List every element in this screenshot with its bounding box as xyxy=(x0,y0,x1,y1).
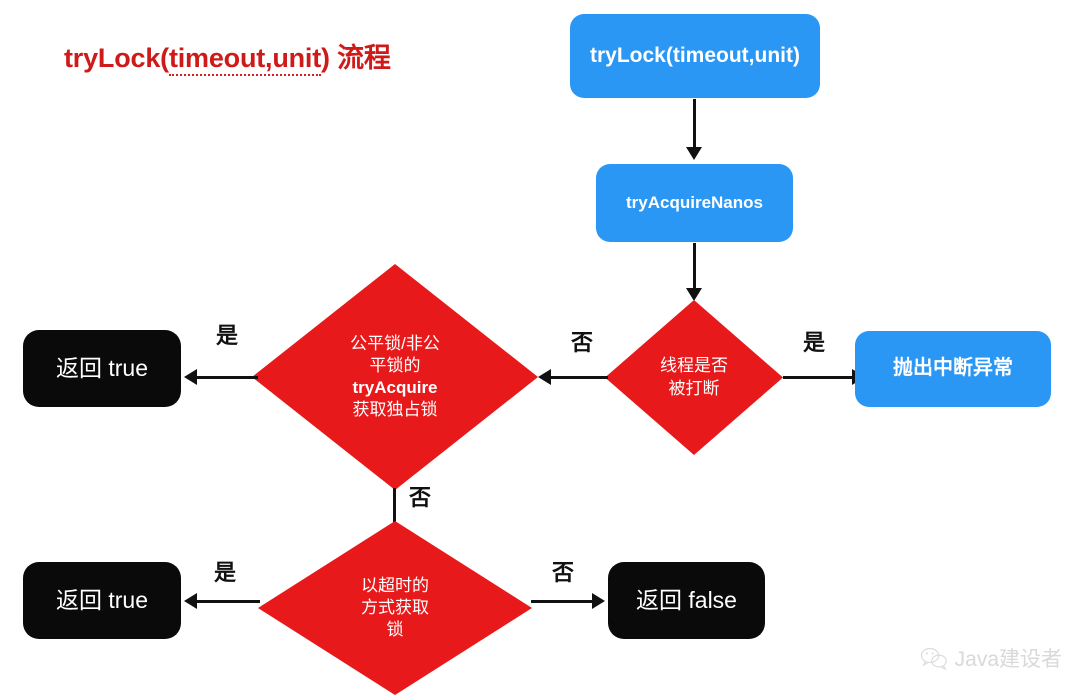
title-spellcheck-text: timeout,unit xyxy=(169,43,321,76)
node-trylock-start-label: tryLock(timeout,unit) xyxy=(590,43,800,70)
node-return-true-bottom-label: 返回 true xyxy=(56,586,148,615)
edge-timeout-yes-line xyxy=(196,600,260,603)
title-prefix: tryLock( xyxy=(64,43,169,73)
node-return-false-label: 返回 false xyxy=(636,586,737,615)
node-trylock-prefix: tryLock( xyxy=(590,44,673,67)
title-suffix: ) 流程 xyxy=(321,43,391,73)
edge-start-to-nanos-line xyxy=(693,99,696,149)
node-return-true-bottom[interactable]: 返回 true xyxy=(23,562,181,639)
edge-label-interrupted-no: 否 xyxy=(571,325,593,357)
node-throw-interrupted-exception[interactable]: 抛出中断异常 xyxy=(855,331,1051,407)
edge-start-to-nanos-arrowhead xyxy=(686,147,702,160)
node-tryacquirenanos-label: tryAcquireNanos xyxy=(626,192,763,214)
node-return-true-top[interactable]: 返回 true xyxy=(23,330,181,407)
edge-fair-yes-line xyxy=(196,376,258,379)
diamond-shape xyxy=(252,264,538,490)
node-trylock-suffix: ) xyxy=(793,44,800,67)
diamond-shape xyxy=(605,300,783,455)
node-thread-interrupted-decision[interactable]: 线程是否 被打断 xyxy=(605,300,783,455)
edge-timeout-no-line xyxy=(531,600,595,603)
diamond-shape xyxy=(258,521,532,695)
edge-timeout-no-arrowhead xyxy=(592,593,605,609)
edge-timeout-yes-arrowhead xyxy=(184,593,197,609)
watermark-text: Java建设者 xyxy=(955,643,1062,673)
edge-interrupted-no-line xyxy=(550,376,608,379)
node-trylock-spellcheck-text: timeout,unit xyxy=(673,44,793,67)
edge-label-fair-no: 否 xyxy=(409,480,431,512)
node-return-false[interactable]: 返回 false xyxy=(608,562,765,639)
edge-nanos-to-interrupted-line xyxy=(693,243,696,290)
edge-label-timeout-no: 否 xyxy=(552,555,574,587)
edge-label-fair-yes: 是 xyxy=(216,318,238,350)
node-tryacquirenanos[interactable]: tryAcquireNanos xyxy=(596,164,793,242)
node-fair-tryacquire-decision[interactable]: 公平锁/非公 平锁的 tryAcquire 获取独占锁 xyxy=(252,264,538,490)
wechat-icon xyxy=(920,646,948,670)
node-trylock-start[interactable]: tryLock(timeout,unit) xyxy=(570,14,820,98)
edge-interrupted-yes-line xyxy=(783,376,855,379)
flowchart-canvas: tryLock(timeout,unit) 流程 tryLock(timeout… xyxy=(0,0,1080,695)
node-throw-interrupted-exception-label: 抛出中断异常 xyxy=(893,356,1013,382)
node-timeout-acquire-decision[interactable]: 以超时的 方式获取 锁 xyxy=(258,521,532,695)
edge-label-interrupted-yes: 是 xyxy=(803,325,825,357)
edge-label-timeout-yes: 是 xyxy=(214,555,236,587)
edge-interrupted-no-arrowhead xyxy=(538,369,551,385)
node-return-true-top-label: 返回 true xyxy=(56,354,148,383)
edge-fair-yes-arrowhead xyxy=(184,369,197,385)
watermark: Java建设者 xyxy=(920,643,1062,673)
page-title: tryLock(timeout,unit) 流程 xyxy=(64,36,391,75)
